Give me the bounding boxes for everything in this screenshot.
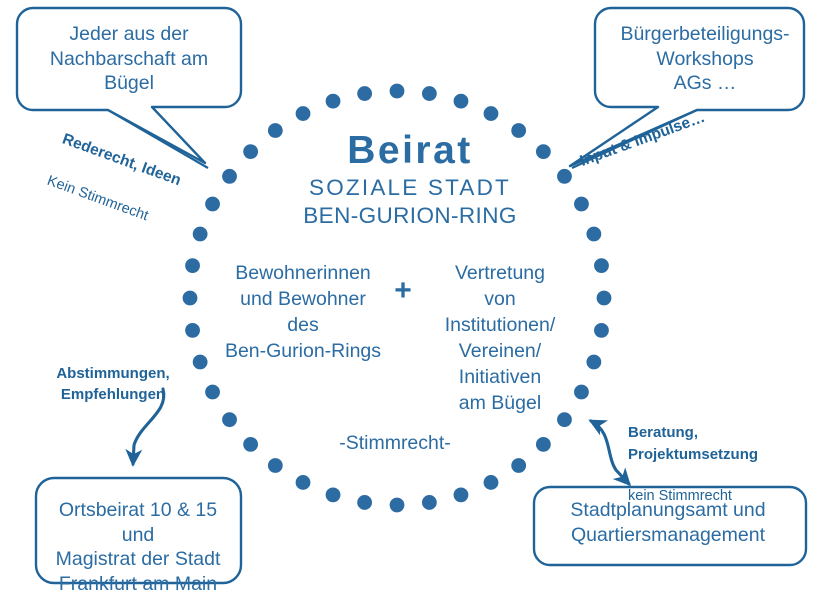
ring-dot — [205, 385, 220, 400]
bubble-top-left-text: Jeder aus der Nachbarschaft am Bügel — [28, 22, 230, 96]
ring-dot — [357, 86, 372, 101]
ring-dot — [390, 498, 405, 513]
ring-dot — [422, 495, 437, 510]
edge-label-beratung-thin: kein Stimmrecht — [628, 486, 788, 507]
center-column-residents: Bewohnerinnen und Bewohner des Ben-Gurio… — [218, 261, 388, 365]
ring-dot — [454, 487, 469, 502]
ring-dot — [326, 487, 341, 502]
diagram-canvas: Jeder aus der Nachbarschaft am Bügel Bür… — [0, 0, 820, 600]
plus-icon: + — [388, 276, 418, 306]
ring-dot — [185, 258, 200, 273]
bubble-top-right-text: Bürgerbeteiligungs- Workshops AGs … — [606, 22, 804, 96]
ring-dot — [597, 291, 612, 306]
ring-dot — [511, 458, 526, 473]
ring-dot — [326, 94, 341, 109]
ring-dot — [296, 106, 311, 121]
box-bottom-left-text: Ortsbeirat 10 & 15 und Magistrat der Sta… — [38, 498, 238, 596]
ring-dot — [193, 227, 208, 242]
ring-dot — [193, 355, 208, 370]
ring-dot — [574, 385, 589, 400]
ring-dot — [586, 355, 601, 370]
edge-label-abstimmungen: Abstimmungen, Empfehlungen — [38, 363, 188, 406]
edge-label-beratung-bold: Beratung, Projektumsetzung — [628, 422, 788, 465]
ring-dot — [594, 323, 609, 338]
center-column-institutions: Vertretung von Institutionen/ Vereinen/ … — [430, 261, 570, 417]
ring-dot — [454, 94, 469, 109]
ring-dot — [536, 437, 551, 452]
ring-dot — [268, 458, 283, 473]
ring-dot — [222, 412, 237, 427]
center-footnote-voting-right: -Stimmrecht- — [290, 431, 500, 456]
ring-dot — [185, 323, 200, 338]
ring-dot — [183, 291, 198, 306]
ring-dot — [390, 84, 405, 99]
ring-dot — [422, 86, 437, 101]
ring-dot — [594, 258, 609, 273]
edge-label-beratung: Beratung, Projektumsetzung kein Stimmrec… — [628, 401, 788, 528]
ring-dot — [484, 106, 499, 121]
ring-dot — [586, 227, 601, 242]
ring-dot — [243, 437, 258, 452]
ring-dot — [357, 495, 372, 510]
ring-dot — [296, 475, 311, 490]
ring-dot — [484, 475, 499, 490]
arrow-beratung-bidirectional — [591, 421, 629, 484]
